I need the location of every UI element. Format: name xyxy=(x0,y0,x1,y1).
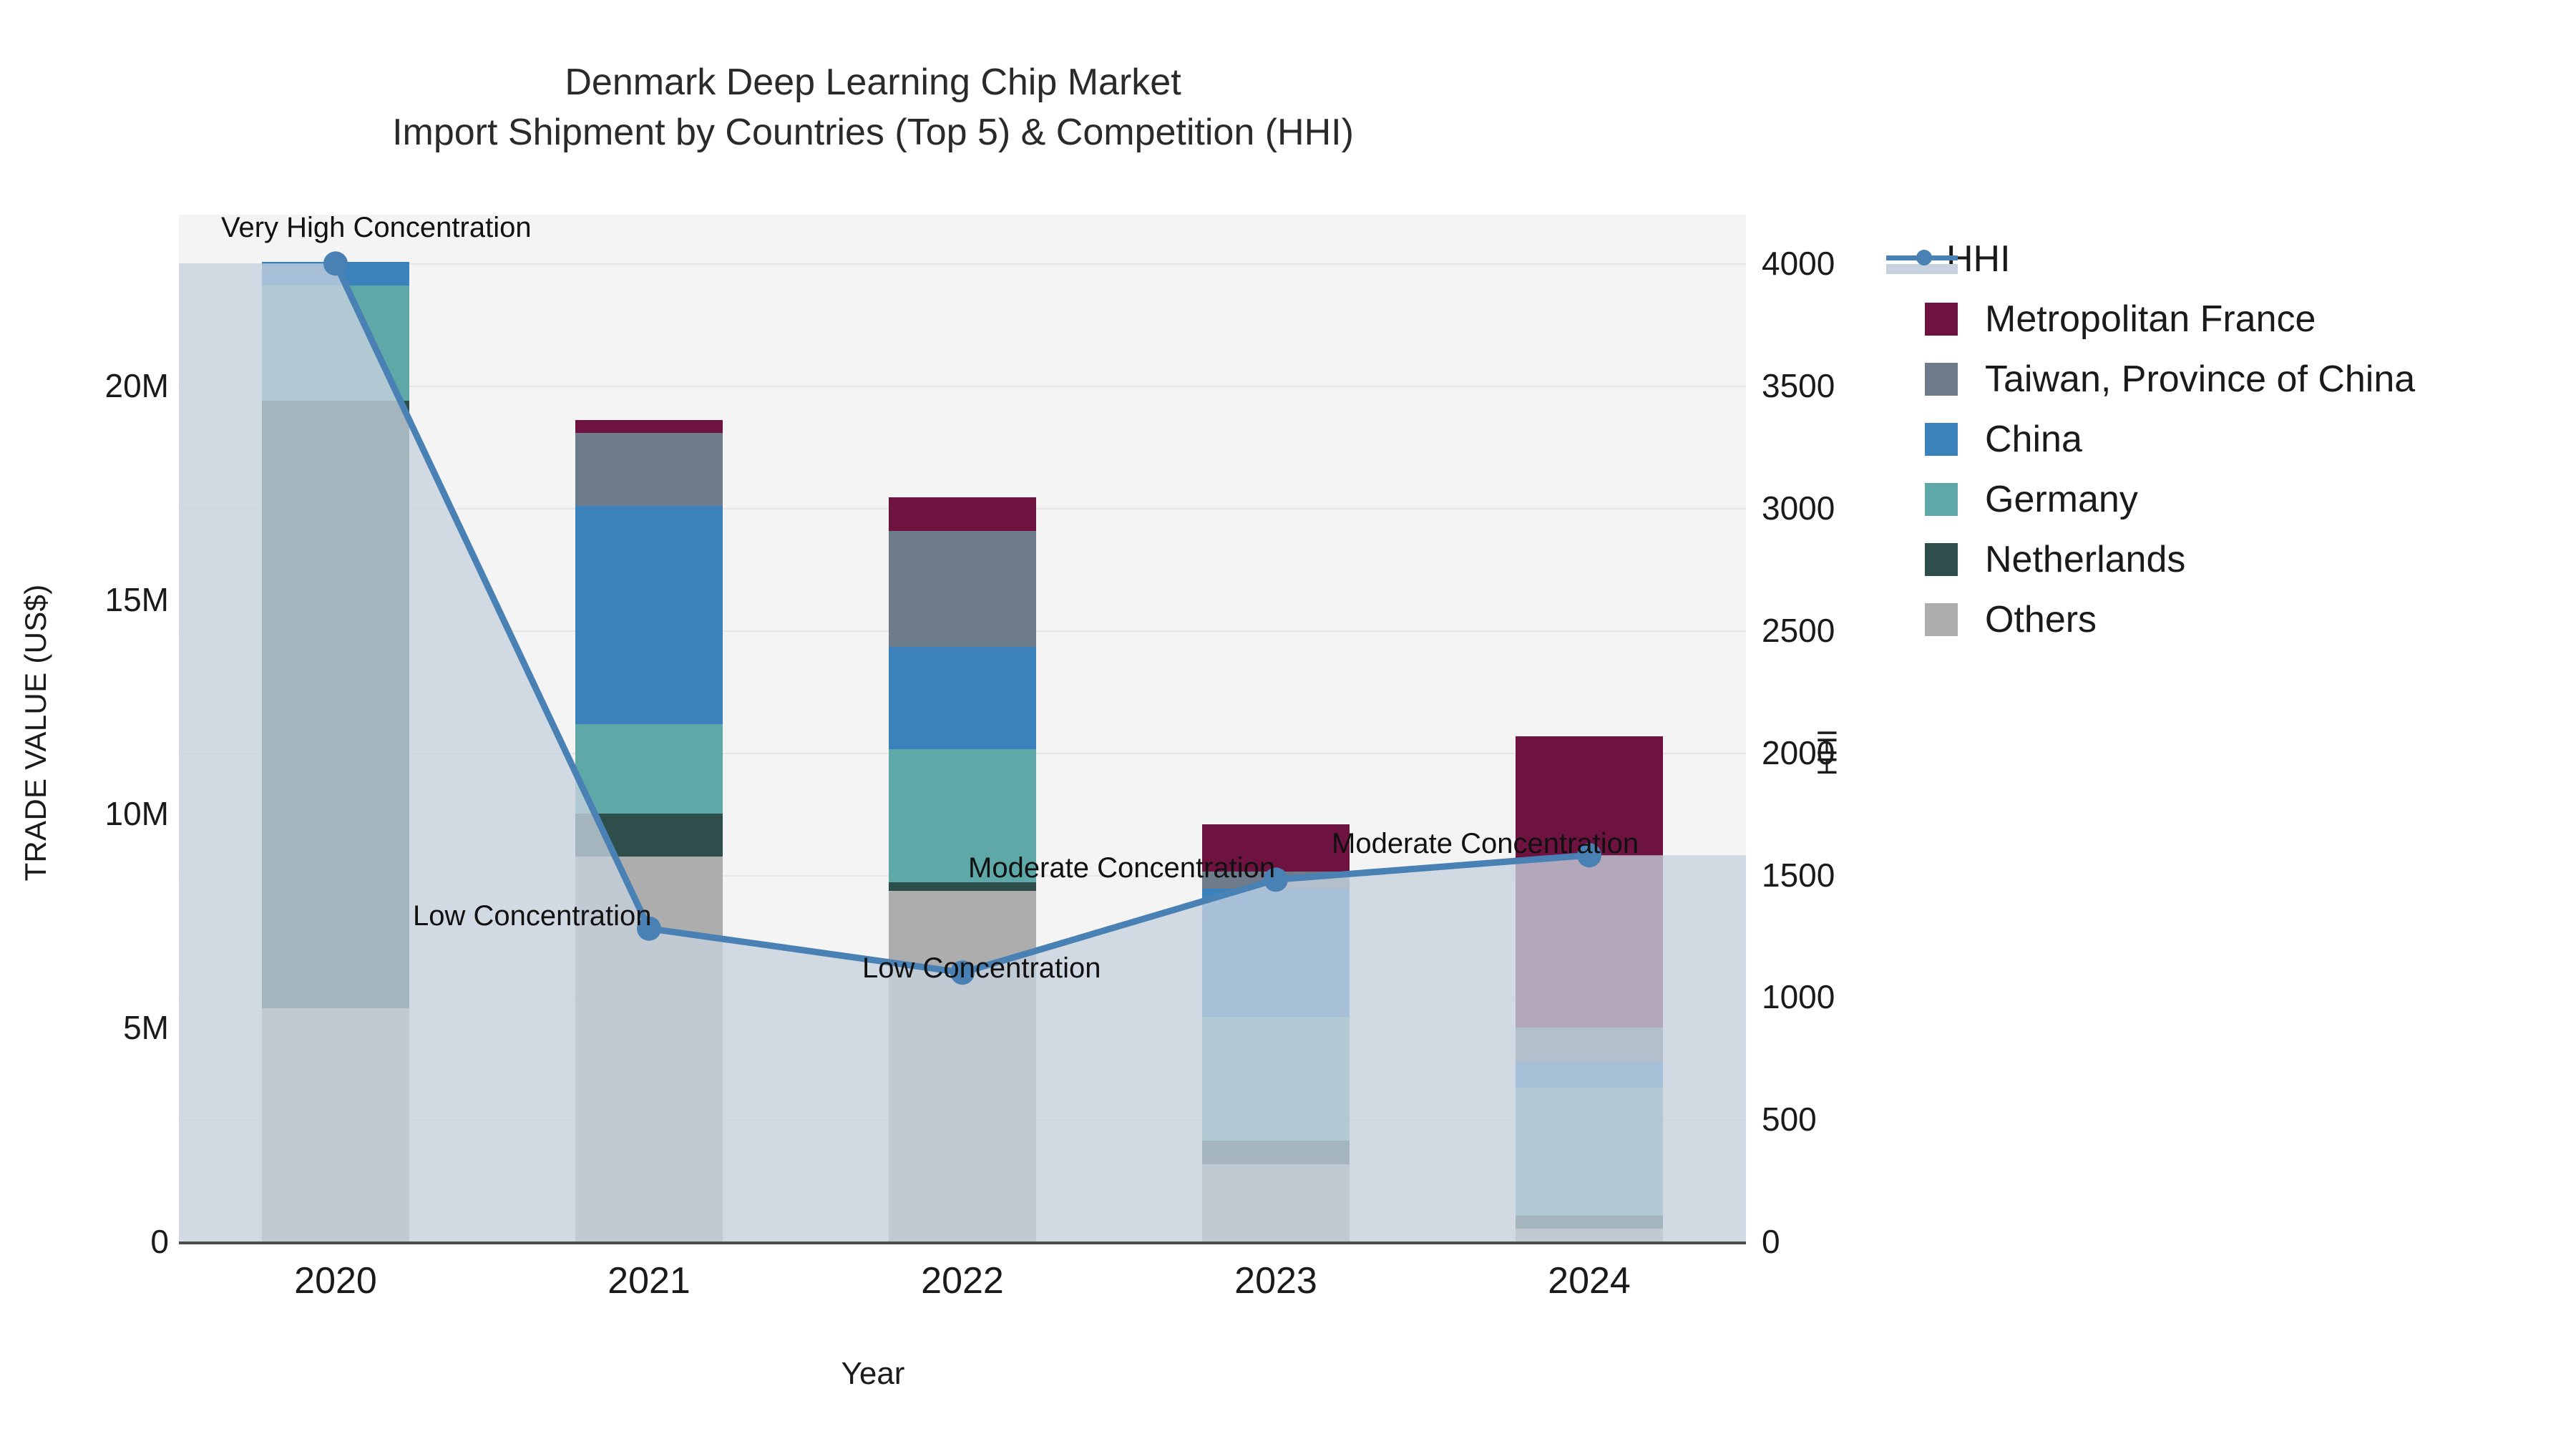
chart-subtitle: Import Shipment by Countries (Top 5) & C… xyxy=(0,107,1746,157)
legend-item[interactable]: Others xyxy=(1925,590,2415,650)
concentration-annotation: Moderate Concentration xyxy=(1332,828,1639,860)
bar-segment[interactable] xyxy=(1516,1229,1663,1241)
y-tick-right: 4000 xyxy=(1762,244,1835,283)
chart-title-block: Denmark Deep Learning Chip Market Import… xyxy=(0,57,1746,157)
legend-item[interactable]: HHI xyxy=(1925,229,2415,289)
legend-label: Taiwan, Province of China xyxy=(1985,358,2415,401)
bar-segment[interactable] xyxy=(575,814,723,857)
bar-segment[interactable] xyxy=(889,647,1036,750)
y-tick-right: 500 xyxy=(1762,1100,1817,1138)
legend-item[interactable]: China xyxy=(1925,409,2415,469)
x-axis-line xyxy=(179,1241,1746,1244)
legend-line-icon xyxy=(1886,243,1958,275)
bar-segment[interactable] xyxy=(1516,1028,1663,1062)
legend-label: Metropolitan France xyxy=(1985,298,2316,341)
y-tick-right: 1000 xyxy=(1762,977,1835,1016)
y-tick-right: 0 xyxy=(1762,1222,1780,1261)
bar-segment[interactable] xyxy=(1516,736,1663,1028)
bar-segment[interactable] xyxy=(1516,1062,1663,1088)
x-tick: 2022 xyxy=(921,1259,1004,1302)
legend-color-swatch xyxy=(1925,483,1958,516)
legend-color-swatch xyxy=(1925,303,1958,336)
x-axis-label: Year xyxy=(0,1356,1746,1392)
bar-segment[interactable] xyxy=(262,262,409,286)
bar-segment[interactable] xyxy=(262,401,409,1008)
x-tick: 2024 xyxy=(1548,1259,1631,1302)
y-tick-left: 20M xyxy=(105,366,169,405)
legend-item[interactable]: Netherlands xyxy=(1925,530,2415,590)
y-tick-left: 15M xyxy=(105,580,169,619)
legend-color-swatch xyxy=(1925,603,1958,636)
legend-item[interactable]: Germany xyxy=(1925,469,2415,530)
bar-segment[interactable] xyxy=(262,1008,409,1241)
gridline xyxy=(179,386,1746,387)
y-axis-left-label: TRADE VALUE (US$) xyxy=(19,482,53,983)
x-tick: 2023 xyxy=(1234,1259,1317,1302)
y-tick-left: 0 xyxy=(150,1222,169,1261)
bar-segment[interactable] xyxy=(1202,889,1350,1017)
chart-title: Denmark Deep Learning Chip Market xyxy=(0,57,1746,107)
legend-item[interactable]: Metropolitan France xyxy=(1925,289,2415,349)
concentration-annotation: Moderate Concentration xyxy=(968,852,1275,884)
y-axis-right-label: HHI xyxy=(1813,610,1844,896)
bar-segment[interactable] xyxy=(575,420,723,433)
chart-root: Denmark Deep Learning Chip Market Import… xyxy=(0,0,2576,1449)
bar-segment[interactable] xyxy=(575,506,723,724)
legend-item[interactable]: Taiwan, Province of China xyxy=(1925,349,2415,409)
legend-label: Others xyxy=(1985,598,2097,641)
bar-segment[interactable] xyxy=(889,891,1036,1241)
bar-segment[interactable] xyxy=(262,286,409,401)
x-tick: 2020 xyxy=(294,1259,377,1302)
legend-color-swatch xyxy=(1925,543,1958,576)
y-tick-right: 3500 xyxy=(1762,366,1835,405)
legend-label: Netherlands xyxy=(1985,538,2185,581)
legend-label: Germany xyxy=(1985,478,2138,521)
gridline xyxy=(179,263,1746,265)
legend-color-swatch xyxy=(1925,423,1958,456)
bar-segment[interactable] xyxy=(1202,1164,1350,1241)
bar-segment[interactable] xyxy=(1516,1216,1663,1229)
concentration-annotation: Low Concentration xyxy=(862,952,1101,985)
bar-segment[interactable] xyxy=(889,531,1036,646)
bar-segment[interactable] xyxy=(1202,1017,1350,1141)
bar-segment[interactable] xyxy=(889,497,1036,532)
bar-segment[interactable] xyxy=(1516,1088,1663,1216)
bar-segment[interactable] xyxy=(575,433,723,506)
concentration-annotation: Low Concentration xyxy=(413,900,652,932)
x-tick: 2021 xyxy=(608,1259,691,1302)
y-tick-left: 5M xyxy=(123,1008,169,1047)
bar-segment[interactable] xyxy=(575,724,723,814)
y-tick-left: 10M xyxy=(105,794,169,833)
legend-color-swatch xyxy=(1925,363,1958,396)
y-tick-right: 3000 xyxy=(1762,489,1835,527)
legend: HHIMetropolitan FranceTaiwan, Province o… xyxy=(1925,229,2415,650)
legend-label: China xyxy=(1985,418,2082,461)
concentration-annotation: Very High Concentration xyxy=(221,212,532,244)
bar-segment[interactable] xyxy=(1202,1141,1350,1164)
